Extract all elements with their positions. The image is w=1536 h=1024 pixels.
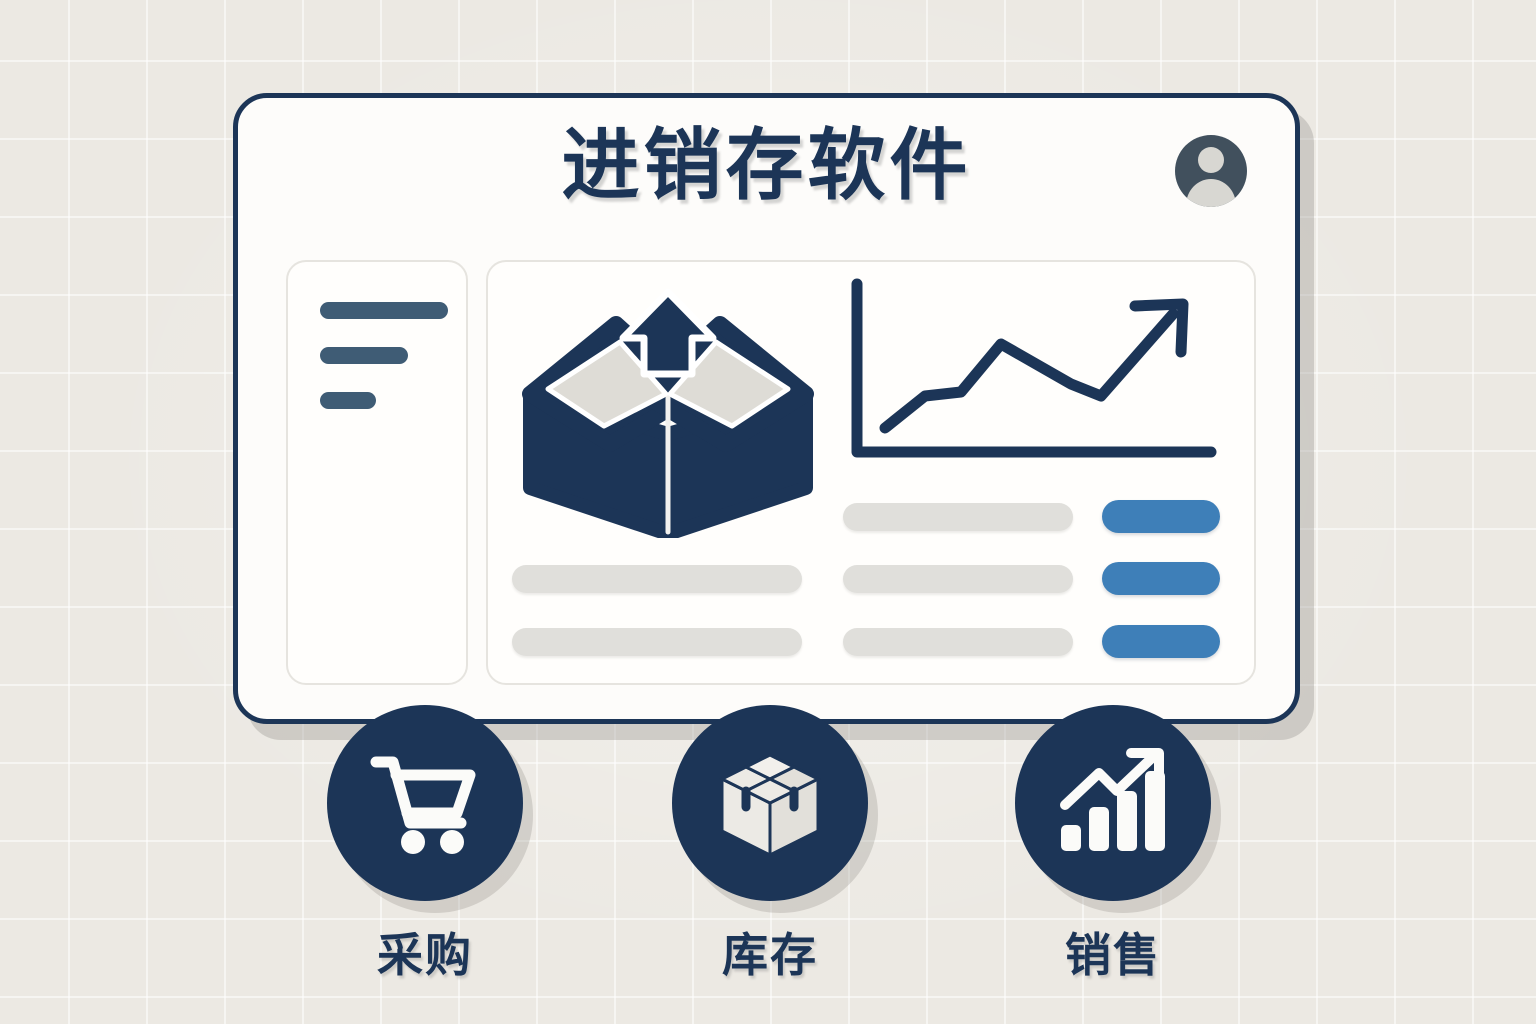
feature-sales-label: 销售 (1015, 919, 1211, 985)
data-row-placeholder-2 (843, 565, 1073, 593)
detail-placeholder-2 (512, 565, 802, 593)
data-row-placeholder-3 (843, 628, 1073, 656)
data-row-placeholder-1 (843, 503, 1073, 531)
feature-inventory-circle[interactable] (672, 705, 868, 901)
shopping-cart-icon (369, 749, 481, 857)
open-box-with-up-arrow-icon (508, 276, 828, 538)
bar-chart-growth-icon (1055, 747, 1171, 859)
sidebar-item-3[interactable] (320, 392, 376, 409)
sidebar-panel (286, 260, 468, 685)
row-action-button-1[interactable] (1102, 500, 1220, 533)
avatar-shoulders-shape (1186, 179, 1236, 207)
sidebar-item-2[interactable] (320, 347, 408, 364)
feature-inventory-label: 库存 (672, 919, 868, 985)
feature-purchase-circle[interactable] (327, 705, 523, 901)
feature-sales-circle[interactable] (1015, 705, 1211, 901)
sidebar-item-1[interactable] (320, 302, 448, 319)
feature-inventory[interactable]: 库存 (672, 705, 868, 985)
content-panel (486, 260, 1256, 685)
page-title: 进销存软件 (238, 126, 1295, 204)
feature-purchase[interactable]: 采购 (327, 705, 523, 985)
detail-placeholder-3 (512, 628, 802, 656)
feature-sales[interactable]: 销售 (1015, 705, 1211, 985)
user-avatar-icon[interactable] (1175, 135, 1247, 207)
line-chart-trending-up-icon (843, 276, 1223, 476)
avatar-head-shape (1198, 147, 1224, 173)
package-cube-icon (712, 745, 828, 861)
row-action-button-2[interactable] (1102, 562, 1220, 595)
app-window-card: 进销存软件 (233, 93, 1300, 724)
feature-purchase-label: 采购 (327, 919, 523, 985)
row-action-button-3[interactable] (1102, 625, 1220, 658)
